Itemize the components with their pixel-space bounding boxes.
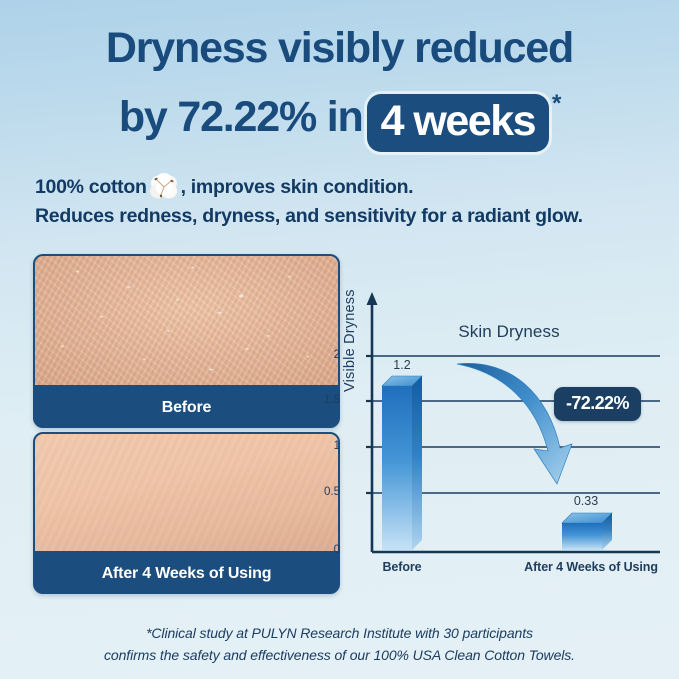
chart-title: Skin Dryness: [344, 322, 674, 342]
bar-value-before: 1.2: [378, 358, 426, 372]
chart-ytick-0: 0: [320, 544, 340, 556]
after-skin-photo: [35, 434, 338, 551]
footnote-line-1: *Clinical study at PULYN Research Instit…: [0, 622, 679, 644]
subtitle-line-2: Reduces redness, dryness, and sensitivit…: [35, 202, 583, 231]
cotton-boll-icon: [148, 172, 180, 202]
infographic-root: Dryness visibly reduced by 72.22% in4 we…: [0, 0, 679, 679]
bar-before: [382, 376, 422, 550]
skin-dryness-bar-chart: Skin Dryness Visible Dryness: [344, 288, 674, 584]
footnote-line-2: confirms the safety and effectiveness of…: [0, 644, 679, 666]
footnote: *Clinical study at PULYN Research Instit…: [0, 622, 679, 666]
subtitle-line-1-suffix: , improves skin condition.: [181, 176, 414, 198]
weeks-pill-badge: 4 weeks: [367, 94, 549, 152]
chart-xlabel-before: Before: [360, 560, 444, 574]
after-photo-panel: After 4 Weeks of Using: [33, 432, 340, 594]
headline-asterisk: *: [552, 90, 560, 117]
chart-ytick-2: 2: [320, 349, 340, 361]
bar-value-after: 0.33: [558, 494, 614, 508]
headline: Dryness visibly reduced by 72.22% in4 we…: [0, 22, 679, 152]
chart-ytick-0-5: 0.5: [320, 486, 340, 498]
chart-ytick-1: 1: [320, 440, 340, 452]
decrease-arrow-icon: [457, 363, 572, 484]
headline-line-2-prefix: by 72.22% in: [119, 93, 363, 141]
before-skin-photo: [35, 256, 338, 385]
chart-ytick-1-5: 1.5: [320, 394, 340, 406]
before-photo-panel: Before: [33, 254, 340, 428]
chart-y-axis-title: Visible Dryness: [342, 289, 358, 392]
subtitle-line-1: 100% cotton: [35, 172, 583, 202]
decrease-percentage-badge: -72.22%: [554, 387, 641, 421]
subtitle: 100% cotton: [35, 172, 583, 231]
chart-xlabel-after: After 4 Weeks of Using: [518, 560, 664, 574]
headline-line-2: by 72.22% in4 weeks*: [0, 78, 679, 152]
headline-line-1: Dryness visibly reduced: [0, 22, 679, 74]
before-panel-label: Before: [35, 389, 338, 426]
bar-after: [562, 513, 612, 550]
subtitle-line-1-prefix: 100% cotton: [35, 176, 147, 198]
after-panel-label: After 4 Weeks of Using: [35, 555, 338, 592]
